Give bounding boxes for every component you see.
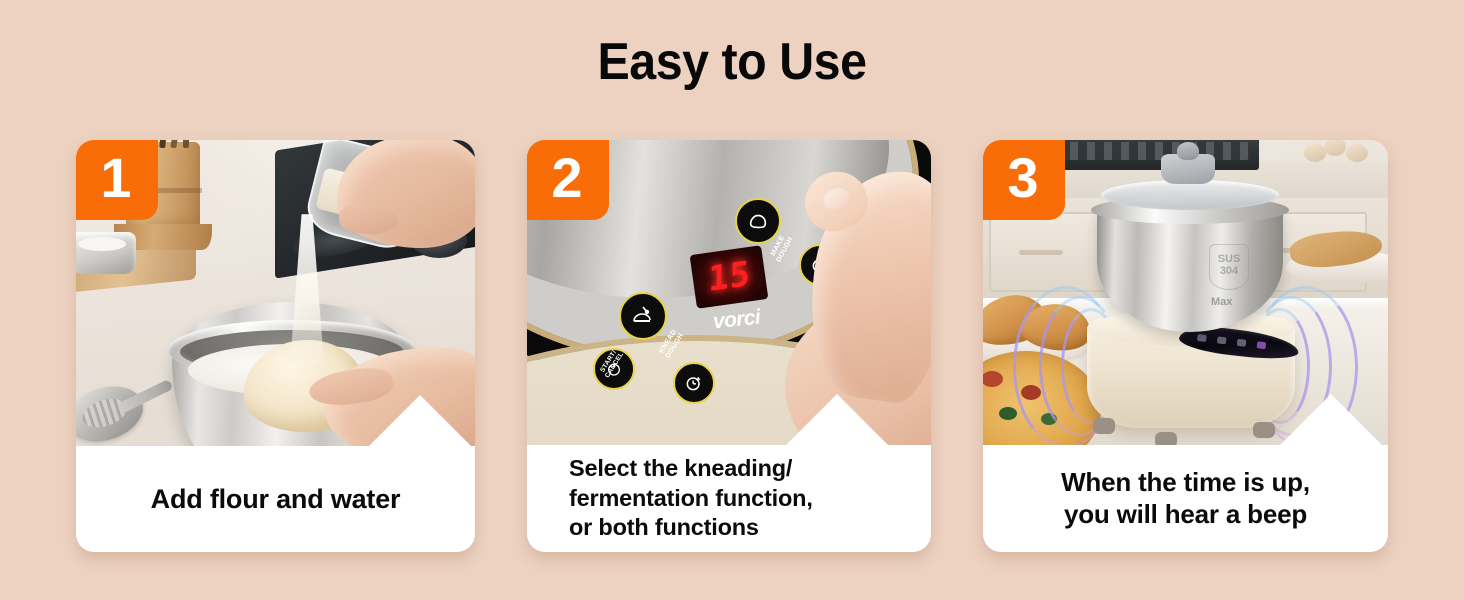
page-title: Easy to Use — [51, 32, 1413, 92]
step-caption-3-line-1: When the time is up, — [1061, 467, 1310, 499]
step-2-photo: 15 vorci KNEAD DOUGH — [527, 140, 931, 445]
step-caption-3: When the time is up, you will hear a bee… — [983, 445, 1388, 552]
led-display-value: 15 — [708, 254, 751, 300]
timer-increase-button[interactable] — [673, 362, 715, 404]
step-badge-1: 1 — [76, 140, 158, 220]
step-caption-2-line-2: fermentation function, — [569, 484, 919, 514]
steps-row: 1 Add flour and water 15 vorci — [76, 140, 1388, 552]
step-caption-1-line-1: Add flour and water — [151, 484, 401, 515]
led-display: 15 — [690, 245, 769, 308]
knead-dough-button[interactable] — [619, 292, 667, 340]
step-number-2: 2 — [551, 150, 582, 206]
make-dough-icon — [747, 210, 769, 232]
timer-plus-icon — [684, 373, 704, 393]
brand-logo: vorci — [712, 306, 761, 335]
bowl-marking: SUS 304 — [1209, 244, 1249, 290]
step-card-1: 1 Add flour and water — [76, 140, 475, 552]
step-caption-2-line-1: Select the kneading/ — [569, 454, 919, 484]
step-badge-2: 2 — [527, 140, 609, 220]
step-caption-3-line-2: you will hear a beep — [1064, 499, 1307, 531]
step-caption-1: Add flour and water — [76, 446, 475, 552]
step-card-2: 15 vorci KNEAD DOUGH — [527, 140, 931, 552]
step-1-photo: 1 — [76, 140, 475, 446]
eggs-shape — [1304, 140, 1374, 164]
lid-knob-shape — [1161, 154, 1215, 184]
step-number-3: 3 — [1007, 150, 1038, 206]
step-card-3: SUS 304 Max 3 When the time is up, you w… — [983, 140, 1388, 552]
knead-dough-icon — [631, 304, 655, 328]
steel-dish-shape — [76, 232, 136, 274]
step-number-1: 1 — [100, 150, 131, 206]
make-dough-button[interactable] — [735, 198, 781, 244]
pouring-hand-shape — [337, 140, 475, 248]
drawer-handle-shape — [1019, 250, 1063, 255]
step-caption-2: Select the kneading/ fermentation functi… — [527, 445, 931, 552]
step-3-photo: SUS 304 Max 3 — [983, 140, 1388, 445]
bowl-fill-line-label: Max — [1211, 296, 1232, 308]
glass-lid-shape — [1101, 180, 1279, 210]
step-badge-3: 3 — [983, 140, 1065, 220]
stovetop-shape — [1043, 140, 1259, 170]
skimmer-spoon-shape — [76, 377, 150, 446]
appliance-feet-shape — [1087, 416, 1295, 445]
step-caption-2-line-3: or both functions — [569, 513, 919, 543]
